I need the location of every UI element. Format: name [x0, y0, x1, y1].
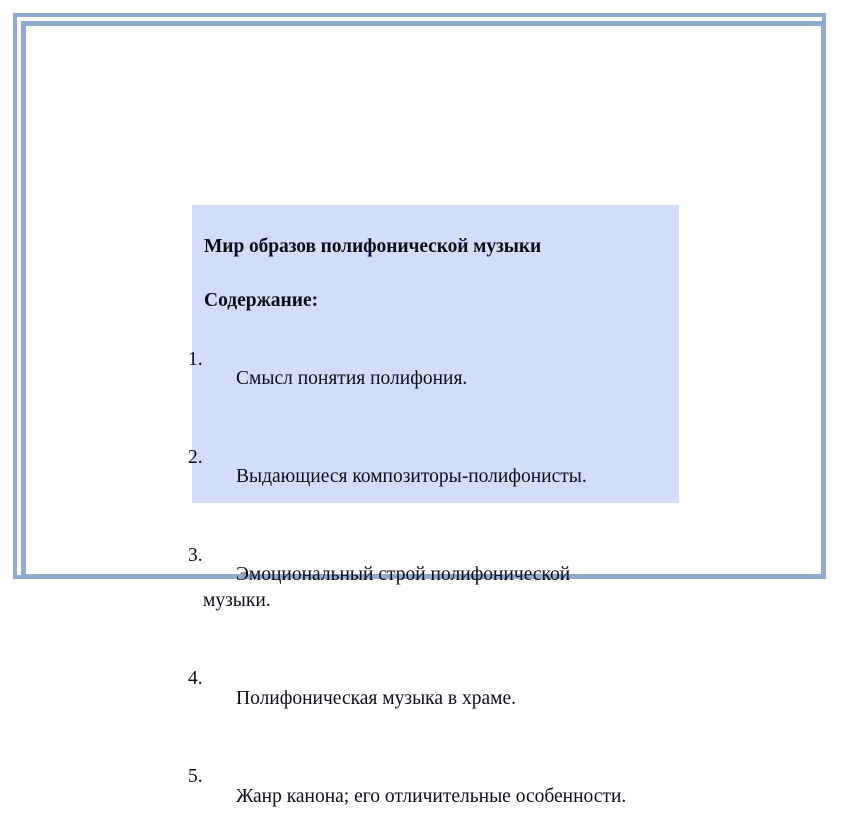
list-item: 5. Жанр канона; его отличительные особен… [188, 728, 688, 826]
list-item-number: 4. [188, 669, 224, 689]
list-item: 1. Смысл понятия полифония. [188, 310, 688, 408]
list-item: 4. Полифоническая музыка в храме. [188, 630, 688, 728]
list-item-number: 1. [188, 350, 224, 370]
list-item-number: 5. [188, 767, 224, 787]
list-item-text: Полифоническая музыка в храме. [236, 689, 688, 709]
list-item-text-line: музыки. [203, 591, 271, 611]
list-item: 2. Выдающиеся композиторы-полифонисты. [188, 408, 688, 506]
list-item-number: 3. [188, 546, 224, 566]
presentation-slide: Мир образов полифонической музыки Содерж… [0, 0, 842, 595]
list-item-number: 2. [188, 448, 224, 468]
contents-heading: Содержание: [188, 257, 688, 311]
list-item-text-line: Эмоциональный строй полифонической [236, 564, 570, 585]
list-item-text: Смысл понятия полифония. [236, 369, 688, 389]
list-item-text: Выдающиеся композиторы-полифонисты. [236, 467, 688, 487]
list-item-text: Жанр канона; его отличительные особеннос… [236, 787, 688, 807]
list-item-text: Эмоциональный строй полифоническоймузыки… [236, 565, 688, 610]
slide-title: Мир образов полифонической музыки [188, 205, 688, 257]
contents-list: 1. Смысл понятия полифония. 2. Выдающиес… [188, 310, 688, 826]
slide-text-block: Мир образов полифонической музыки Содерж… [188, 205, 688, 826]
list-item: 3. Эмоциональный строй полифоническоймуз… [188, 506, 688, 630]
